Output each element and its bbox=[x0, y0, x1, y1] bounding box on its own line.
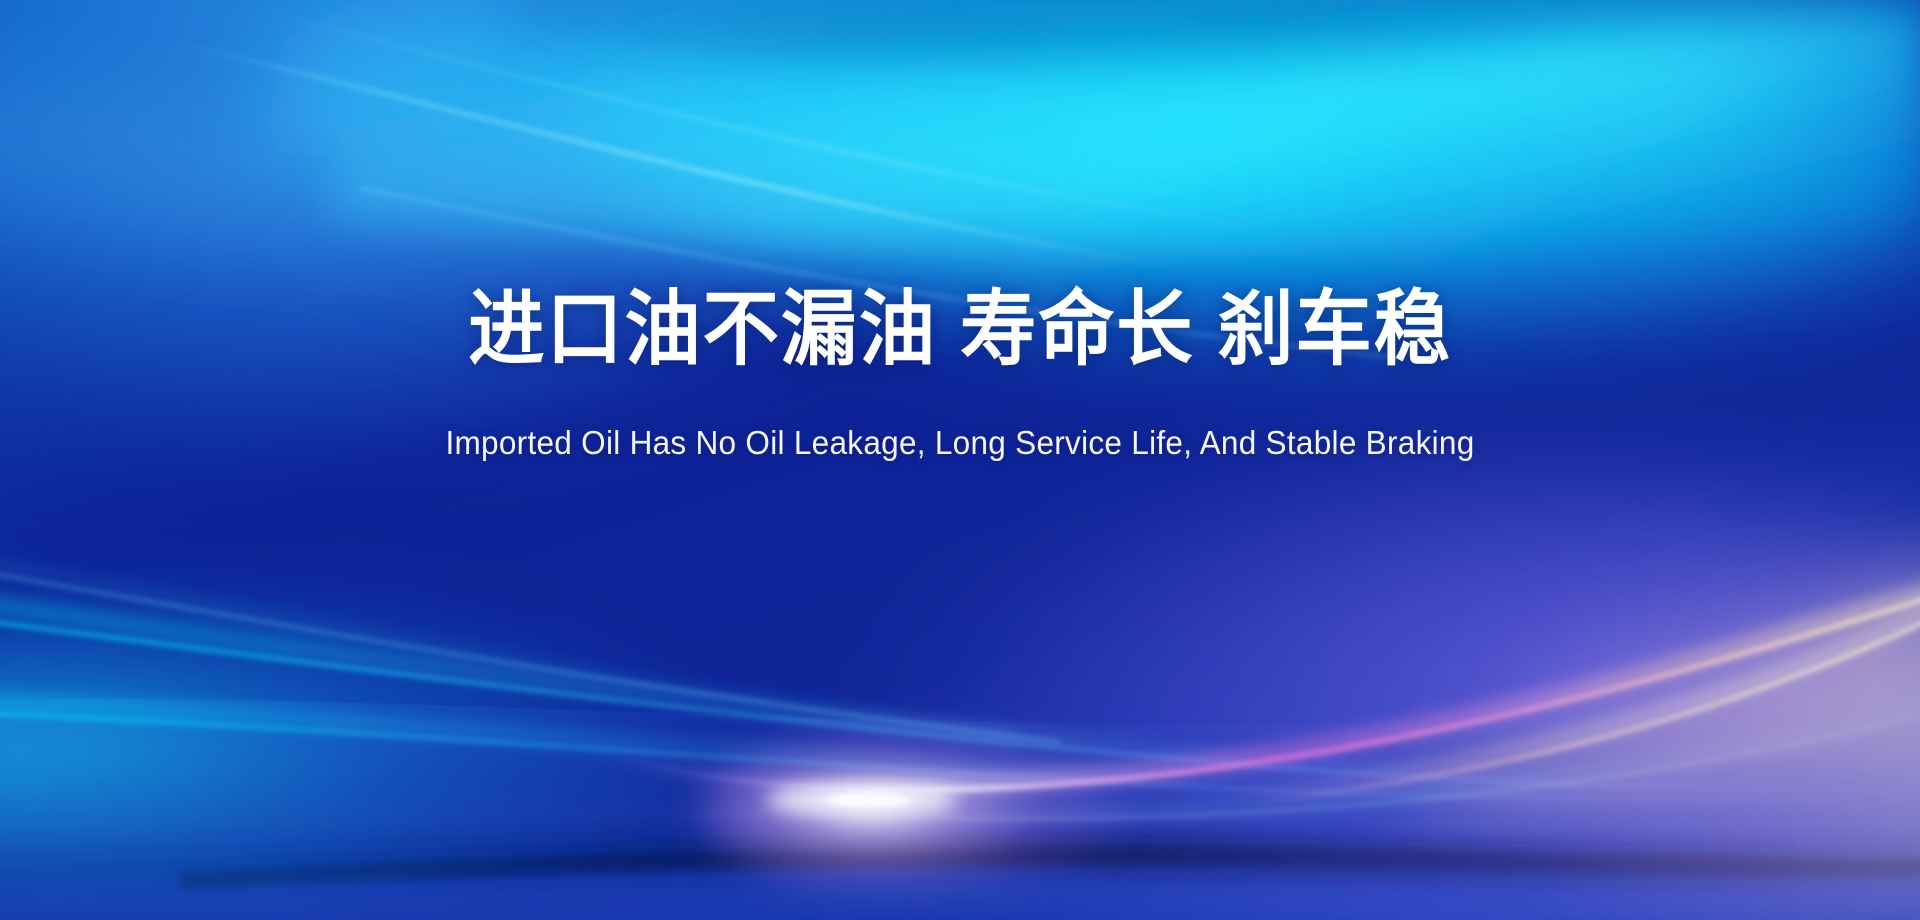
filament-upper-2 bbox=[250, 8, 1290, 232]
arc-teal-under bbox=[700, 700, 1920, 815]
arc-teal-under-2 bbox=[760, 706, 1920, 819]
arc-gold-upper bbox=[980, 596, 1920, 812]
streak-cyan-2 bbox=[0, 618, 1920, 790]
arc-pink-gold bbox=[560, 582, 1920, 786]
glow-gold-right bbox=[1480, 560, 1920, 920]
wave-faint-1 bbox=[0, 817, 1920, 836]
streak-cyan-1 bbox=[0, 600, 1920, 787]
promo-banner: 进口油不漏油 寿命长 刹车稳 Imported Oil Has No Oil L… bbox=[0, 0, 1920, 920]
ribbon-left-wash bbox=[0, 60, 1080, 300]
banner-subtitle: Imported Oil Has No Oil Leakage, Long Se… bbox=[43, 423, 1877, 463]
ribbon-top-cyan-mass bbox=[260, 0, 1920, 265]
banner-content: 进口油不漏油 寿命长 刹车稳 Imported Oil Has No Oil L… bbox=[0, 282, 1920, 462]
filament-upper bbox=[160, 38, 1180, 268]
glow-purple-haze bbox=[900, 470, 1920, 920]
streak-cyan-5 bbox=[0, 560, 1020, 738]
glow-bottom-left-cyan bbox=[0, 580, 680, 920]
hotspot-core bbox=[766, 785, 958, 815]
wave-faint-2 bbox=[0, 891, 1920, 906]
ribbon-dark-top-swoosh bbox=[500, 0, 1920, 75]
streak-cyan-4 bbox=[0, 712, 1920, 801]
glow-hotspot bbox=[700, 718, 1130, 903]
ribbon-top-cyan-sweep bbox=[330, 10, 1920, 251]
arc-gold-upper-core bbox=[1020, 604, 1920, 816]
hotspot-core-inner bbox=[826, 793, 910, 807]
wave-dark-band-2 bbox=[180, 848, 1920, 890]
banner-headline: 进口油不漏油 寿命长 刹车稳 bbox=[67, 282, 1853, 379]
streak-cyan-3 bbox=[0, 700, 1920, 798]
streak-cyan-6 bbox=[0, 568, 1060, 742]
arc-pink-gold-core bbox=[600, 588, 1920, 790]
bg-bottom-field bbox=[0, 699, 1920, 920]
bottom-light-field bbox=[0, 866, 1920, 920]
wave-dark-band bbox=[0, 835, 1920, 900]
glow-gold-plume bbox=[1420, 560, 1920, 820]
